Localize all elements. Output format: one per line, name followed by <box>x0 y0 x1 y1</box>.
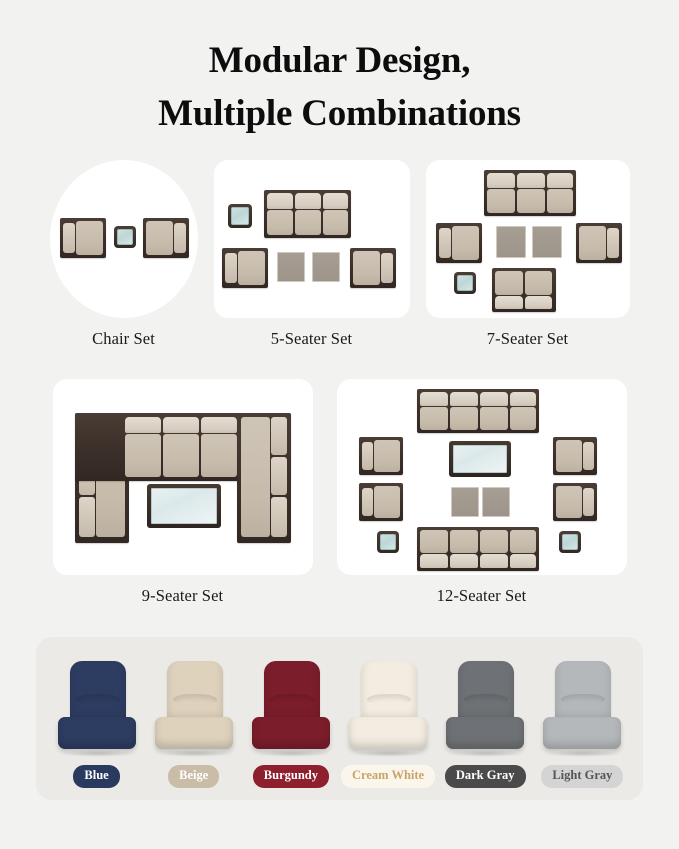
seat-cushion <box>155 717 233 749</box>
cushion-chair-figure <box>347 661 429 757</box>
color-swatch-blue[interactable]: Blue <box>51 661 143 788</box>
color-label-pill: Beige <box>168 765 219 788</box>
set-label: 12-Seater Set <box>437 586 527 606</box>
set-5-seater[interactable]: 5-Seater Set <box>214 160 410 349</box>
backrest-cushion <box>361 661 417 723</box>
title-line-2: Multiple Combinations <box>0 87 679 140</box>
side-table <box>454 272 476 294</box>
set-12-seater[interactable]: 12-Seater Set <box>337 379 627 606</box>
set-label: 9-Seater Set <box>142 586 223 606</box>
ottoman <box>277 252 305 282</box>
backrest-cushion <box>70 661 126 723</box>
sofa-two-seat <box>492 268 556 312</box>
drop-shadow <box>159 750 231 757</box>
nine-seater-diagram <box>53 379 313 575</box>
ottoman <box>496 226 526 258</box>
side-table <box>228 204 252 228</box>
set-diagrams: Chair Set <box>0 160 679 606</box>
drop-shadow <box>353 750 425 757</box>
coffee-table <box>147 484 221 528</box>
cushion-chair-figure <box>444 661 526 757</box>
sofa-three-seat <box>264 190 351 238</box>
armchair-right <box>350 248 396 288</box>
armchair-left <box>436 223 482 263</box>
chair-set-diagram <box>50 160 198 318</box>
armchair-right-lower <box>553 483 597 521</box>
drop-shadow <box>547 750 619 757</box>
armchair-right-upper <box>553 437 597 475</box>
color-swatch-list: Blue Beige Burgundy Cream <box>36 637 643 800</box>
seat-cushion <box>349 717 427 749</box>
color-swatch-cream-white[interactable]: Cream White <box>342 661 434 788</box>
color-options-panel: Blue Beige Burgundy Cream <box>36 637 643 800</box>
drop-shadow <box>256 750 328 757</box>
ottoman <box>482 487 510 517</box>
color-label-pill: Dark Gray <box>445 765 526 788</box>
seat-cushion <box>543 717 621 749</box>
cushion-chair-figure <box>541 661 623 757</box>
set-label: Chair Set <box>92 329 155 349</box>
color-label-pill: Blue <box>73 765 119 788</box>
set-chair-set[interactable]: Chair Set <box>50 160 198 349</box>
color-swatch-burgundy[interactable]: Burgundy <box>245 661 337 788</box>
color-label-pill: Cream White <box>341 765 435 788</box>
page-title: Modular Design, Multiple Combinations <box>0 0 679 141</box>
seat-cushion <box>58 717 136 749</box>
seven-seater-diagram <box>426 160 630 318</box>
set-row-top: Chair Set <box>0 160 679 349</box>
side-table <box>114 226 136 248</box>
armchair-left-upper <box>359 437 403 475</box>
armchair-left <box>222 248 268 288</box>
twelve-seater-diagram <box>337 379 627 575</box>
coffee-table <box>449 441 511 477</box>
side-table-right <box>559 531 581 553</box>
backrest-cushion <box>264 661 320 723</box>
backrest-cushion <box>458 661 514 723</box>
color-label-pill: Burgundy <box>253 765 329 788</box>
drop-shadow <box>62 750 134 757</box>
armchair-left-lower <box>359 483 403 521</box>
cushion-chair-figure <box>250 661 332 757</box>
color-label-pill: Light Gray <box>541 765 623 788</box>
set-label: 7-Seater Set <box>487 329 568 349</box>
armchair-left <box>60 218 106 258</box>
five-seater-diagram <box>214 160 410 318</box>
sofa-three-seat <box>484 170 576 216</box>
drop-shadow <box>450 750 522 757</box>
color-swatch-beige[interactable]: Beige <box>148 661 240 788</box>
backrest-cushion <box>167 661 223 723</box>
set-9-seater[interactable]: 9-Seater Set <box>53 379 313 606</box>
armchair-right <box>143 218 189 258</box>
seat-cushion <box>446 717 524 749</box>
sofa-four-seat-top <box>417 389 539 433</box>
cushion-chair-figure <box>56 661 138 757</box>
ottoman <box>451 487 479 517</box>
title-line-1: Modular Design, <box>209 40 471 81</box>
set-label: 5-Seater Set <box>271 329 352 349</box>
seat-cushion <box>252 717 330 749</box>
ottoman <box>532 226 562 258</box>
color-swatch-dark-gray[interactable]: Dark Gray <box>439 661 531 788</box>
cushion-chair-figure <box>153 661 235 757</box>
set-7-seater[interactable]: 7-Seater Set <box>426 160 630 349</box>
armchair-right <box>576 223 622 263</box>
sofa-four-seat-bottom <box>417 527 539 571</box>
color-swatch-light-gray[interactable]: Light Gray <box>536 661 628 788</box>
sectional-right-wing <box>237 413 291 543</box>
set-row-bottom: 9-Seater Set <box>0 379 679 606</box>
backrest-cushion <box>555 661 611 723</box>
ottoman <box>312 252 340 282</box>
side-table-left <box>377 531 399 553</box>
